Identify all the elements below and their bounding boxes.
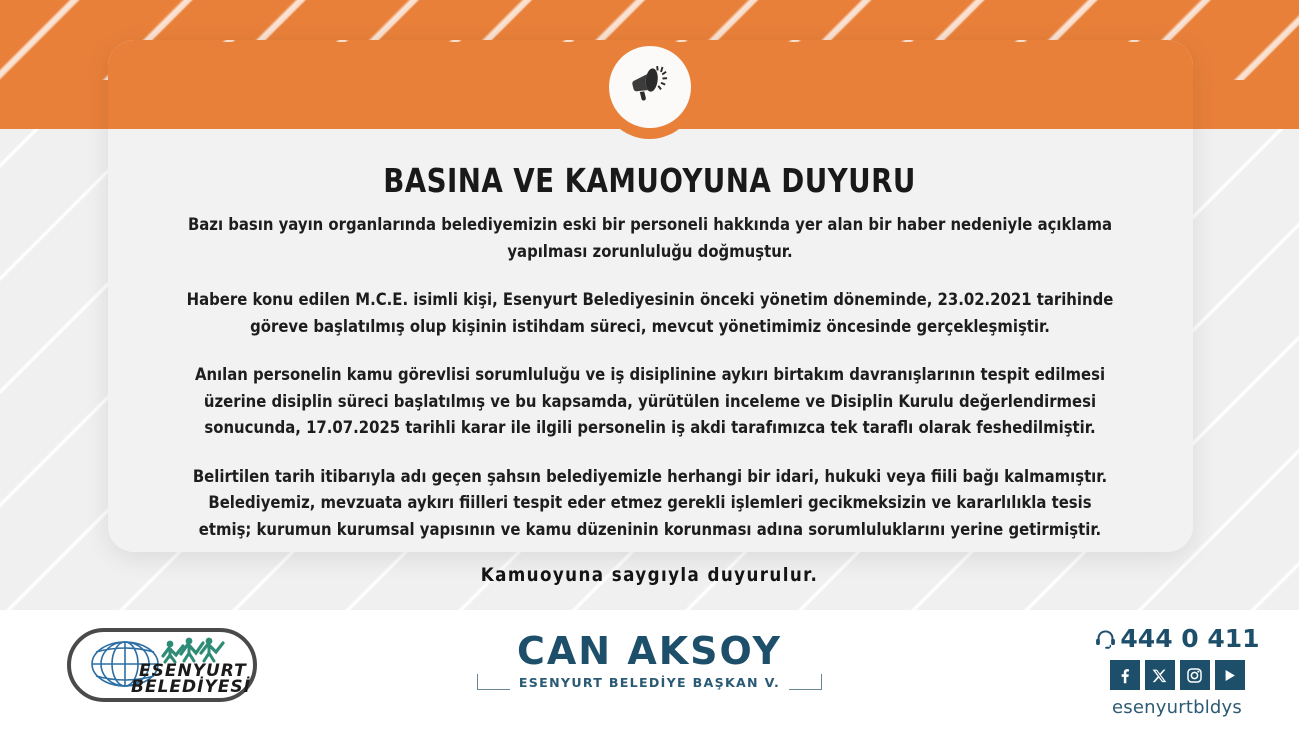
bracket-left-icon [477,674,510,690]
megaphone-badge [609,46,691,128]
paragraph-2: Habere konu edilen M.C.E. isimli kişi, E… [183,287,1117,340]
contact-block: 444 0 411 [1093,625,1261,718]
closing-line: Kamuoyuna saygıyla duyurulur. [78,564,1221,586]
instagram-glyph [1186,667,1203,684]
announcement-poster: BASINA VE KAMUOYUNA DUYURU Bazı basın ya… [0,0,1299,734]
facebook-icon[interactable] [1110,660,1140,690]
megaphone-icon [623,60,677,114]
social-links [1093,660,1261,690]
footer: ESENYURT BELEDİYESİ CAN AKSOY ESENYURT B… [0,610,1299,734]
youtube-icon[interactable] [1215,660,1245,690]
paragraph-3: Anılan personelin kamu görevlisi sorumlu… [183,362,1117,442]
contact-phone-number: 444 0 411 [1120,625,1259,653]
instagram-icon[interactable] [1180,660,1210,690]
paragraph-1: Bazı basın yayın organlarında belediyemi… [183,212,1117,265]
x-twitter-icon[interactable] [1145,660,1175,690]
announcement-body: Bazı basın yayın organlarında belediyemi… [110,212,1190,543]
social-handle: esenyurtbldys [1093,697,1261,718]
x-glyph [1152,668,1167,683]
paragraph-4: Belirtilen tarih itibarıyla adı geçen şa… [183,464,1117,544]
facebook-glyph [1116,667,1133,684]
contact-phone-row[interactable]: 444 0 411 [1093,625,1261,653]
play-glyph [1221,667,1238,684]
bracket-right-icon [789,674,822,690]
headset-icon [1094,628,1117,651]
mayor-title: ESENYURT BELEDİYE BAŞKAN V. [519,675,780,690]
page-title: BASINA VE KAMUOYUNA DUYURU [104,161,1195,200]
